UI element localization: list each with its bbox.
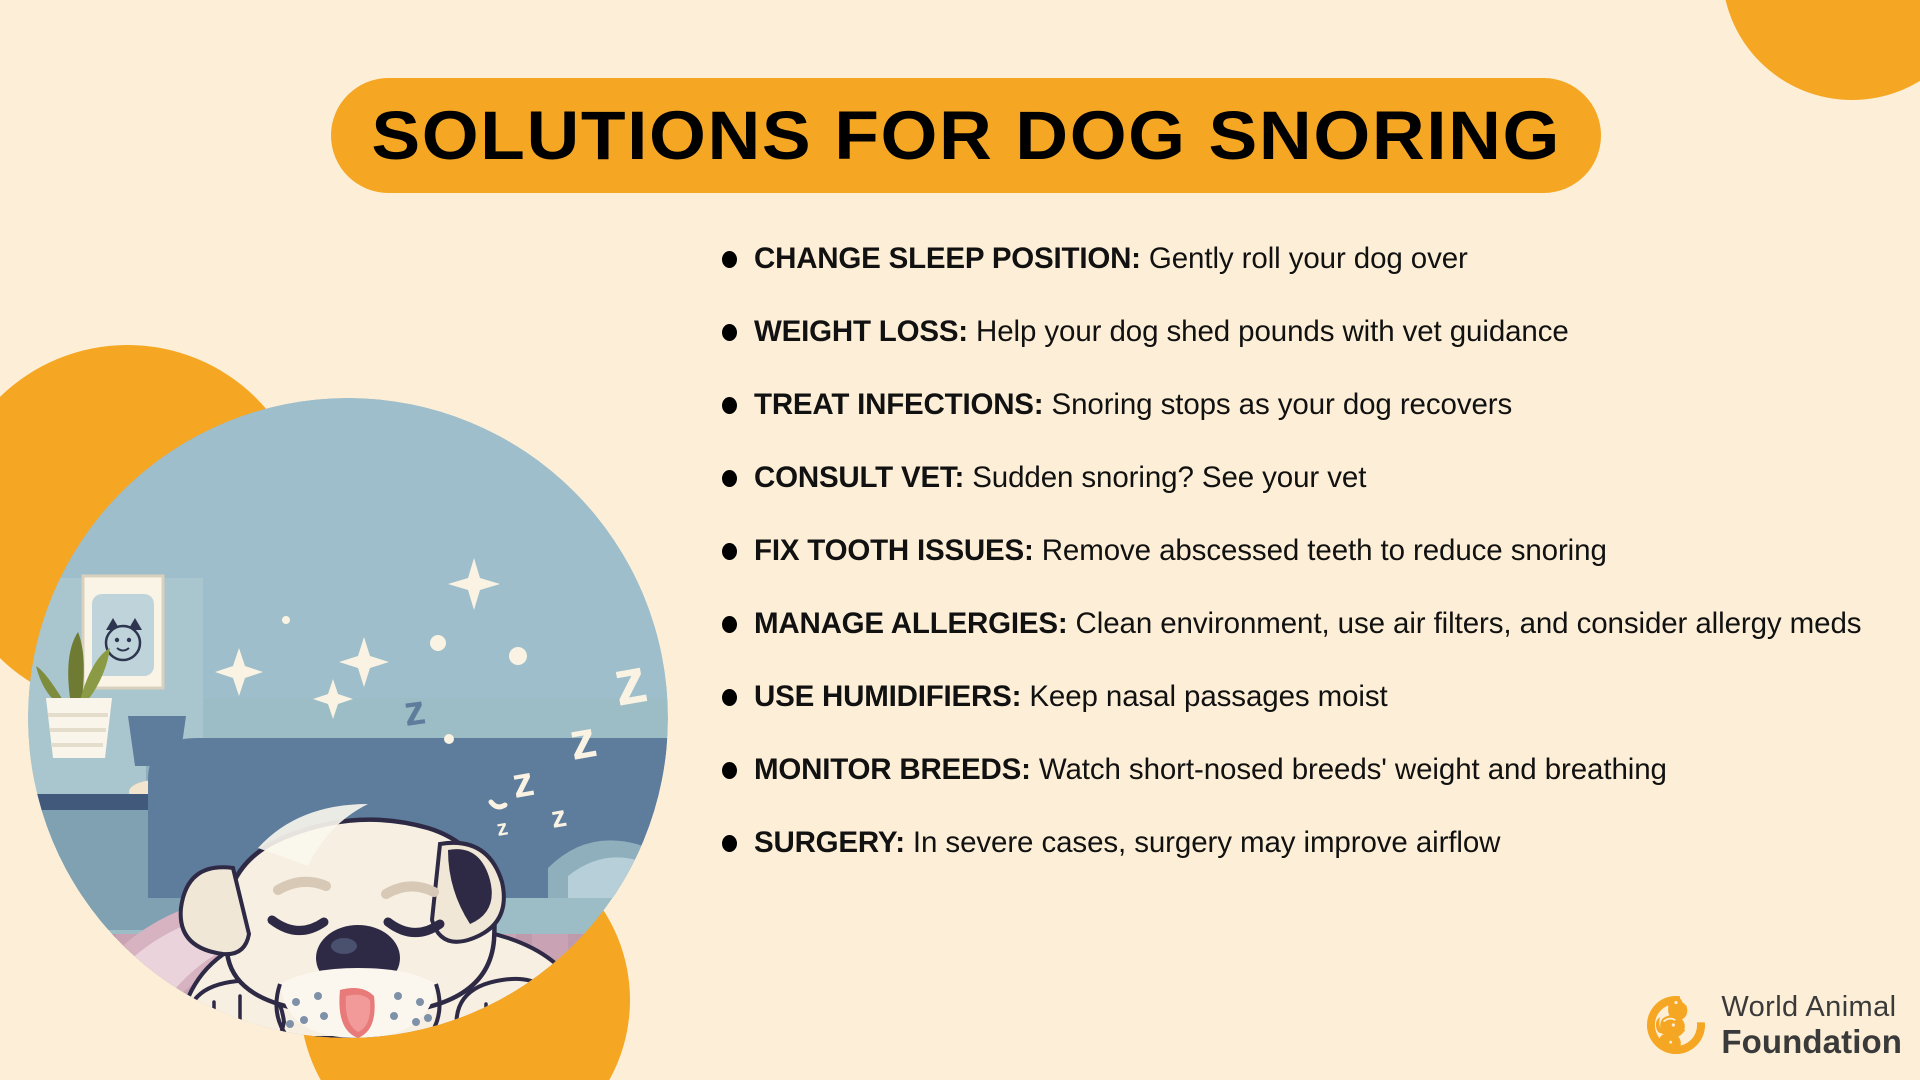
solution-item: TREAT INFECTIONS: Snoring stops as your … <box>722 386 1902 424</box>
world-animal-foundation-logo: World Animal Foundation <box>1643 992 1902 1058</box>
logo-line-foundation: Foundation <box>1721 1025 1902 1058</box>
solutions-list: CHANGE SLEEP POSITION: Gently roll your … <box>722 240 1902 862</box>
world-animal-foundation-mark <box>1643 992 1709 1058</box>
solution-label: USE HUMIDIFIERS: <box>754 680 1021 713</box>
solution-label: MONITOR BREEDS: <box>754 753 1031 786</box>
page-title: SOLUTIONS FOR DOG SNORING <box>371 96 1561 175</box>
solution-item: CONSULT VET: Sudden snoring? See your ve… <box>722 459 1902 497</box>
bullet-icon <box>722 470 737 487</box>
solution-label: CHANGE SLEEP POSITION: <box>754 242 1141 275</box>
solution-text: MANAGE ALLERGIES: Clean environment, use… <box>754 605 1861 642</box>
solution-item: SURGERY: In severe cases, surgery may im… <box>722 824 1902 862</box>
solution-item: WEIGHT LOSS: Help your dog shed pounds w… <box>722 313 1902 351</box>
solution-label: CONSULT VET: <box>754 461 964 494</box>
bullet-icon <box>722 397 737 414</box>
bullet-icon <box>722 762 737 779</box>
bullet-icon <box>722 251 737 268</box>
solution-text: MONITOR BREEDS: Watch short-nosed breeds… <box>754 751 1667 788</box>
solution-text: FIX TOOTH ISSUES: Remove abscessed teeth… <box>754 532 1607 569</box>
logo-line-world-animal: World Animal <box>1721 993 1902 1022</box>
bullet-icon <box>722 324 737 341</box>
solution-description: Help your dog shed pounds with vet guida… <box>968 315 1569 348</box>
solution-description: Sudden snoring? See your vet <box>964 461 1366 494</box>
sleeping-bulldog-illustration: z z z z z z <box>28 398 668 1038</box>
solution-label: TREAT INFECTIONS: <box>754 388 1043 421</box>
title-banner: SOLUTIONS FOR DOG SNORING <box>331 78 1601 193</box>
solution-description: Watch short-nosed breeds' weight and bre… <box>1031 753 1667 786</box>
solution-item: MANAGE ALLERGIES: Clean environment, use… <box>722 605 1902 643</box>
solution-description: Remove abscessed teeth to reduce snoring <box>1034 534 1607 567</box>
solution-text: CHANGE SLEEP POSITION: Gently roll your … <box>754 240 1468 277</box>
decorative-circle-top-right <box>1722 0 1920 100</box>
solution-label: FIX TOOTH ISSUES: <box>754 534 1034 567</box>
bullet-icon <box>722 689 737 706</box>
bullet-icon <box>722 835 737 852</box>
solution-label: SURGERY: <box>754 826 905 859</box>
solution-description: Snoring stops as your dog recovers <box>1043 388 1512 421</box>
bullet-icon <box>722 616 737 633</box>
solution-item: USE HUMIDIFIERS: Keep nasal passages moi… <box>722 678 1902 716</box>
solution-label: MANAGE ALLERGIES: <box>754 607 1067 640</box>
solution-item: CHANGE SLEEP POSITION: Gently roll your … <box>722 240 1902 278</box>
bullet-icon <box>722 543 737 560</box>
solution-description: Keep nasal passages moist <box>1021 680 1387 713</box>
solution-description: Clean environment, use air filters, and … <box>1067 607 1861 640</box>
solution-text: CONSULT VET: Sudden snoring? See your ve… <box>754 459 1366 496</box>
solution-description: In severe cases, surgery may improve air… <box>905 826 1501 859</box>
solution-text: SURGERY: In severe cases, surgery may im… <box>754 824 1500 861</box>
solution-description: Gently roll your dog over <box>1141 242 1468 275</box>
solution-text: WEIGHT LOSS: Help your dog shed pounds w… <box>754 313 1569 350</box>
solution-label: WEIGHT LOSS: <box>754 315 968 348</box>
solution-text: USE HUMIDIFIERS: Keep nasal passages moi… <box>754 678 1388 715</box>
solution-item: FIX TOOTH ISSUES: Remove abscessed teeth… <box>722 532 1902 570</box>
solution-item: MONITOR BREEDS: Watch short-nosed breeds… <box>722 751 1902 789</box>
logo-wordmark: World Animal Foundation <box>1721 993 1902 1058</box>
solution-text: TREAT INFECTIONS: Snoring stops as your … <box>754 386 1512 423</box>
